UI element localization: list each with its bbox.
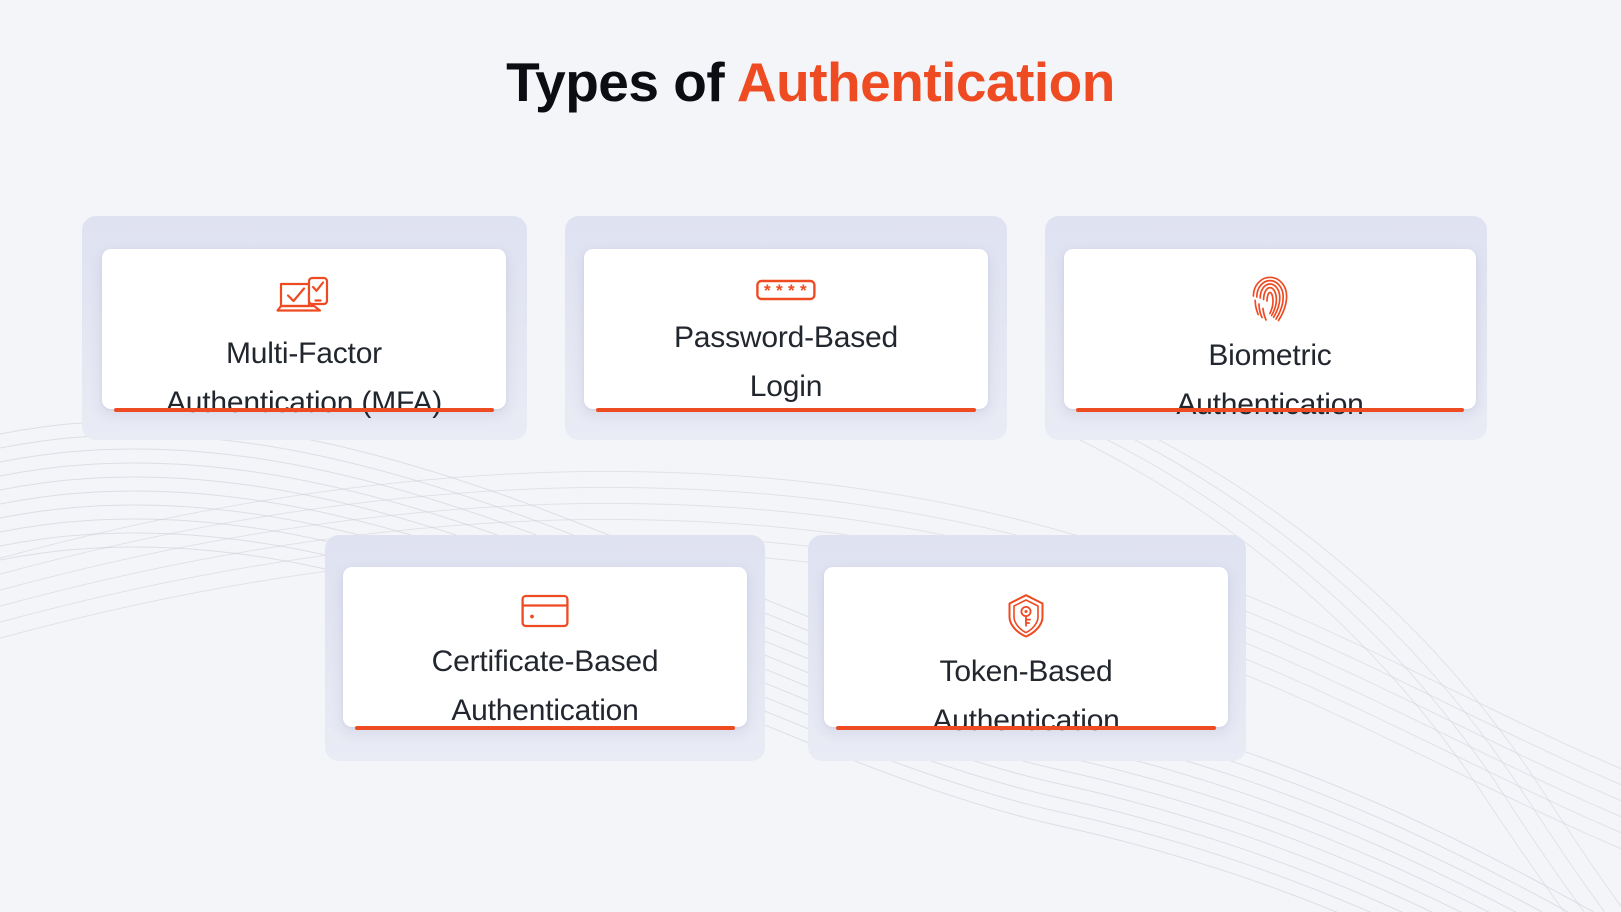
card-accent-underline [355,726,735,730]
card-label-certificate-based: Certificate-Based Authentication [418,637,673,735]
shield-key-icon [1006,593,1046,639]
card-label-line1: Token-Based [932,647,1119,696]
card-label-line1: Multi-Factor [166,329,442,378]
card-label-biometric: Biometric Authentication [1162,331,1377,429]
page-title-accent: Authentication [737,51,1115,113]
laptop-phone-check-icon [276,275,332,321]
svg-text:*: * [776,281,783,300]
card-label-line1: Biometric [1176,331,1363,380]
card-token-based-authentication[interactable]: Token-Based Authentication [824,567,1228,727]
fingerprint-icon [1250,275,1290,323]
card-label-line2: Authentication [932,696,1119,745]
card-password-based-login[interactable]: * * * * Password-Based Login [584,249,988,409]
card-multi-factor-authentication[interactable]: Multi-Factor Authentication (MFA) [102,249,506,409]
card-certificate-based-authentication[interactable]: Certificate-Based Authentication [343,567,747,727]
card-label-line1: Certificate-Based [432,637,659,686]
card-biometric-authentication[interactable]: Biometric Authentication [1064,249,1476,409]
certificate-card-icon [521,593,569,629]
card-accent-underline [114,408,494,412]
card-label-line2: Authentication (MFA) [166,378,442,427]
page-title: Types of Authentication [0,50,1621,114]
card-accent-underline [596,408,976,412]
page-title-prefix: Types of [506,51,737,113]
card-label-password-based: Password-Based Login [660,313,912,411]
card-accent-underline [836,726,1216,730]
card-label-line1: Password-Based [674,313,898,362]
infographic-page: Types of Authentication Multi-Factor Aut… [0,0,1621,912]
card-accent-underline [1076,408,1464,412]
password-asterisks-icon: * * * * [756,275,816,305]
card-label-multi-factor: Multi-Factor Authentication (MFA) [152,329,456,427]
svg-text:*: * [800,281,807,300]
svg-text:*: * [764,281,771,300]
card-label-line2: Authentication [1176,380,1363,429]
card-label-token-based: Token-Based Authentication [918,647,1133,745]
card-label-line2: Login [674,362,898,411]
svg-text:*: * [788,281,795,300]
